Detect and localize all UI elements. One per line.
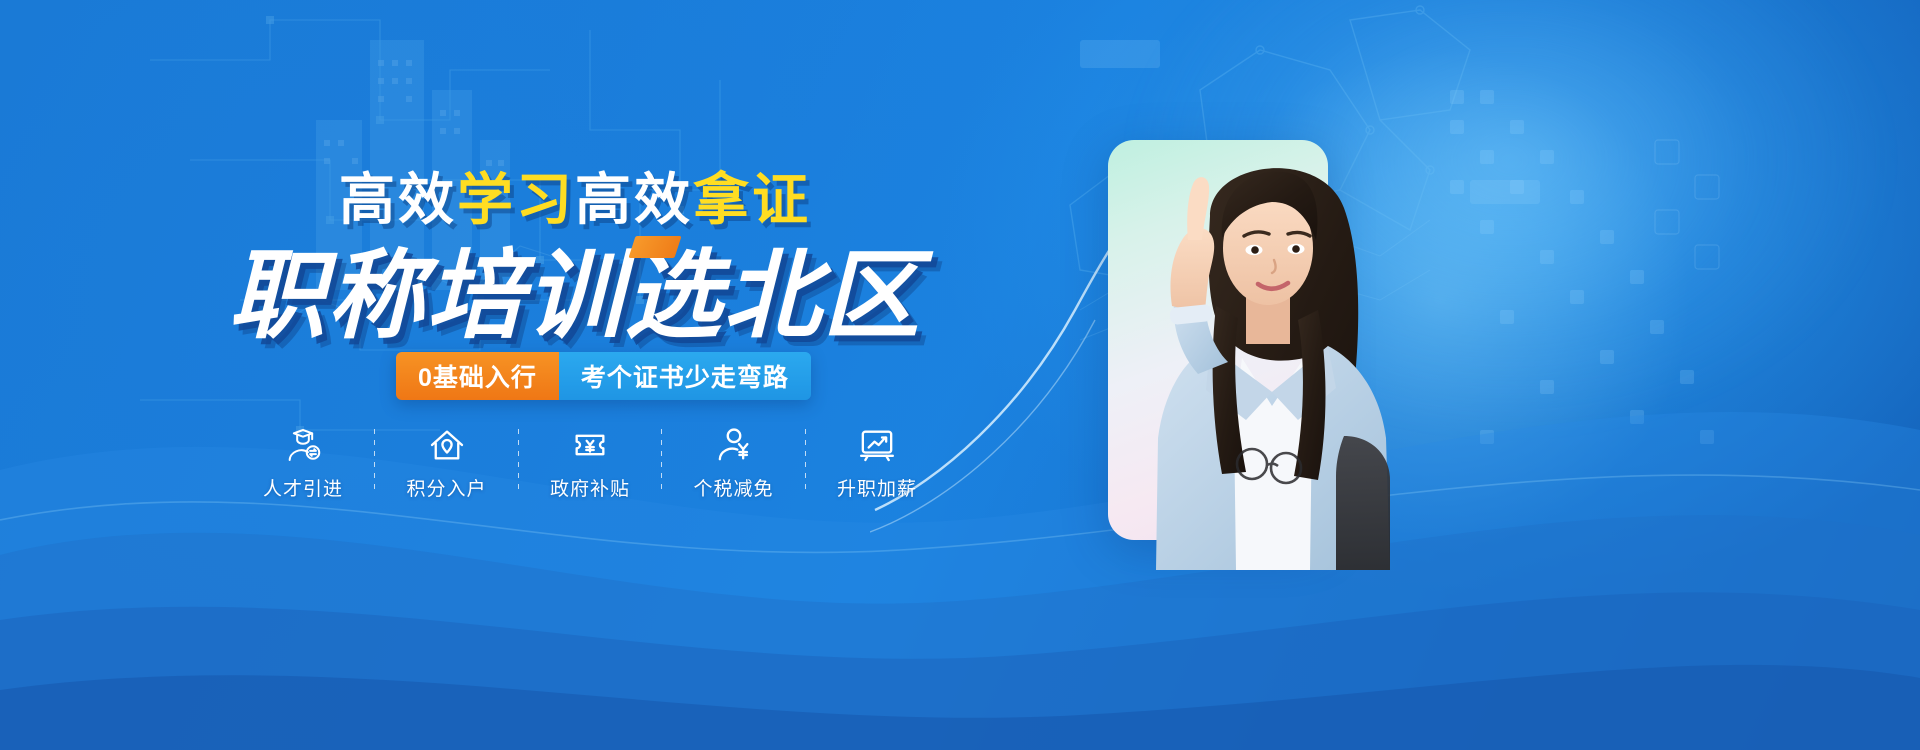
house-pin-icon [427, 425, 467, 465]
tagline-left-label: 0基础入行 [396, 352, 559, 400]
graduate-person-icon [283, 425, 323, 465]
voucher-yuan-icon [570, 425, 610, 465]
tagline-pill: 0基础入行 考个证书少走弯路 [396, 352, 811, 400]
feature-label: 升职加薪 [837, 474, 917, 501]
feature-item-points-residency[interactable]: 积分入户 [384, 425, 510, 501]
chart-board-icon [857, 425, 897, 465]
feature-label: 积分入户 [406, 474, 486, 501]
orange-accent-bar [628, 236, 681, 258]
person-yuan-icon [714, 425, 754, 465]
feature-item-talent-introduction[interactable]: 人才引进 [240, 425, 366, 501]
feature-label: 人才引进 [263, 474, 343, 501]
feature-item-promotion-raise[interactable]: 升职加薪 [814, 425, 940, 501]
feature-list: 人才引进 积分入户 [240, 425, 940, 520]
feature-item-government-subsidy[interactable]: 政府补贴 [527, 425, 653, 501]
main-headline-text: 职称培训选北区 [229, 216, 922, 357]
data-matrix-pattern-icon [1440, 80, 1770, 510]
feature-divider [805, 429, 806, 489]
feature-item-tax-reduction[interactable]: 个税减免 [671, 425, 797, 501]
feature-label: 政府补贴 [550, 474, 630, 501]
promo-banner: 高效学习高效拿证 职称培训选北区 0基础入行 考个证书少走弯路 [0, 0, 1920, 750]
main-headline: 职称培训选北区 [0, 216, 1150, 357]
feature-divider [661, 429, 662, 489]
feature-divider [518, 429, 519, 489]
tagline-right-label: 考个证书少走弯路 [559, 352, 811, 400]
feature-divider [374, 429, 375, 489]
banner-content: 高效学习高效拿证 职称培训选北区 0基础入行 考个证书少走弯路 [0, 0, 1150, 750]
feature-label: 个税减免 [693, 474, 773, 501]
